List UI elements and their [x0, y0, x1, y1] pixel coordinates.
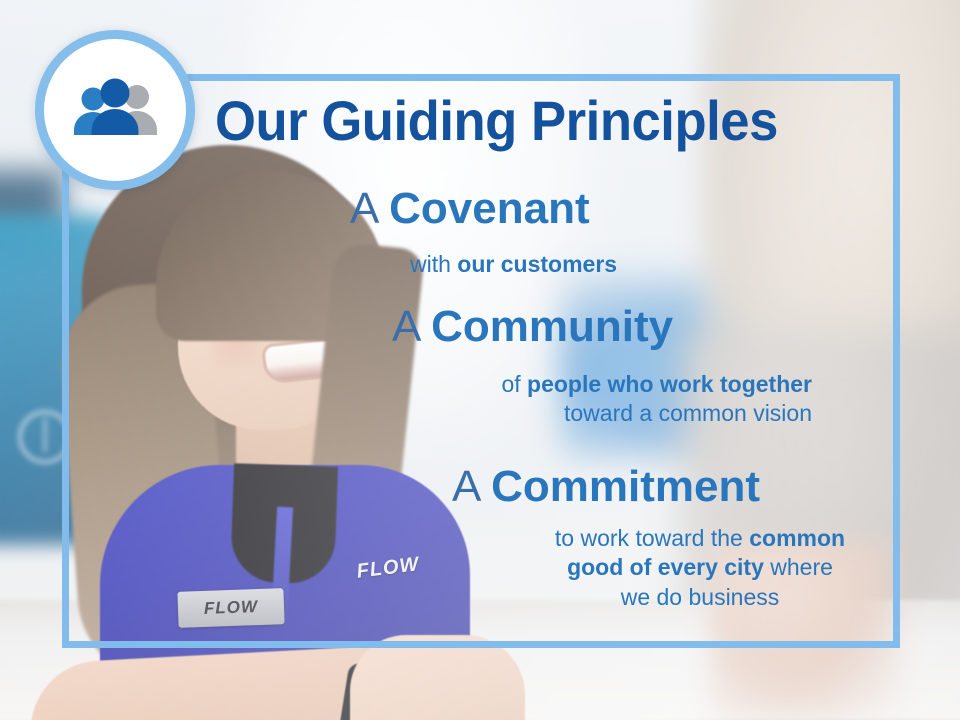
poster-canvas: FLOW FLOW Our	[0, 0, 960, 720]
principle-commitment-detail-suffix: where	[764, 554, 833, 580]
principle-community-detail-bold: people who work together	[527, 371, 812, 397]
principle-community-detail-line1: of people who work together	[452, 370, 812, 399]
principle-commitment-detail-prefix: to work toward the	[555, 525, 749, 551]
principle-covenant-detail-bold: our customers	[457, 251, 617, 277]
principle-commitment-detail-bold-a: common	[749, 525, 845, 551]
principle-covenant-detail: with our customers	[410, 250, 617, 279]
principle-commitment-detail: to work toward the common good of every …	[520, 524, 880, 612]
principle-community-article: A	[392, 302, 419, 351]
principle-commitment-detail-line2: good of every city where	[520, 553, 880, 582]
principle-community-detail-line2: toward a common vision	[452, 399, 812, 428]
principle-community-detail: of people who work together toward a com…	[452, 370, 812, 429]
people-group-icon	[65, 77, 165, 143]
principle-commitment-article: A	[452, 462, 479, 511]
page-title: Our Guiding Principles	[215, 92, 845, 150]
principle-covenant-keyword: Covenant	[389, 184, 589, 233]
principle-commitment-keyword: Commitment	[491, 462, 760, 511]
principle-commitment-heading: A Commitment	[452, 464, 760, 510]
principle-community-heading: A Community	[392, 304, 673, 350]
principle-covenant-heading: A Covenant	[350, 186, 590, 232]
principle-commitment-detail-line1: to work toward the common	[520, 524, 880, 553]
principle-covenant-detail-prefix: with	[410, 251, 457, 277]
people-badge	[35, 30, 195, 190]
principle-community-detail-prefix: of	[501, 371, 527, 397]
principle-community-keyword: Community	[431, 302, 673, 351]
principle-commitment-detail-bold-b: good of every city	[567, 554, 764, 580]
principle-covenant-article: A	[350, 184, 377, 233]
principle-commitment-detail-line3: we do business	[520, 583, 880, 612]
